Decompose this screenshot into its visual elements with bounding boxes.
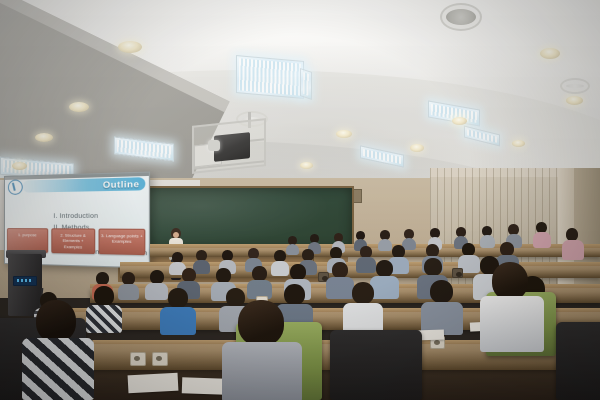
power-outlet[interactable] — [130, 352, 146, 366]
projector-lens-icon — [208, 140, 220, 151]
downlight — [512, 140, 525, 147]
power-outlet[interactable] — [452, 268, 463, 278]
slide-callout-box: 3. Language points + Examples — [99, 229, 146, 255]
paper-sheet — [182, 377, 227, 395]
slide-callout-box: 2. Structure & Elements + Examples — [51, 228, 95, 254]
downlight — [69, 102, 89, 112]
paper-sheet — [128, 373, 179, 394]
downlight — [336, 130, 352, 138]
downlight — [300, 162, 313, 169]
slide-logo-icon — [8, 179, 23, 194]
ceiling-vent-icon — [560, 78, 590, 94]
seat-back — [330, 330, 422, 400]
downlight — [410, 144, 424, 152]
ceiling-speaker-icon — [440, 3, 482, 31]
downlight — [566, 96, 583, 105]
downlight — [118, 41, 142, 53]
desk-tier — [150, 248, 600, 257]
panel-light — [300, 68, 312, 100]
downlight — [12, 162, 27, 170]
panel-light — [236, 55, 304, 99]
lecture-hall-photo: Outline I. Introduction II. Methods III.… — [0, 0, 600, 400]
downlight — [452, 117, 467, 125]
seat-back — [556, 322, 600, 400]
downlight — [540, 48, 560, 59]
slide-outline-item: I. Introduction — [53, 212, 144, 220]
ceiling — [0, 0, 600, 190]
podium-display — [13, 276, 37, 286]
downlight — [35, 133, 53, 142]
power-outlet[interactable] — [152, 352, 168, 366]
ceiling-projector — [186, 118, 270, 174]
slide-title: Outline — [103, 177, 140, 191]
